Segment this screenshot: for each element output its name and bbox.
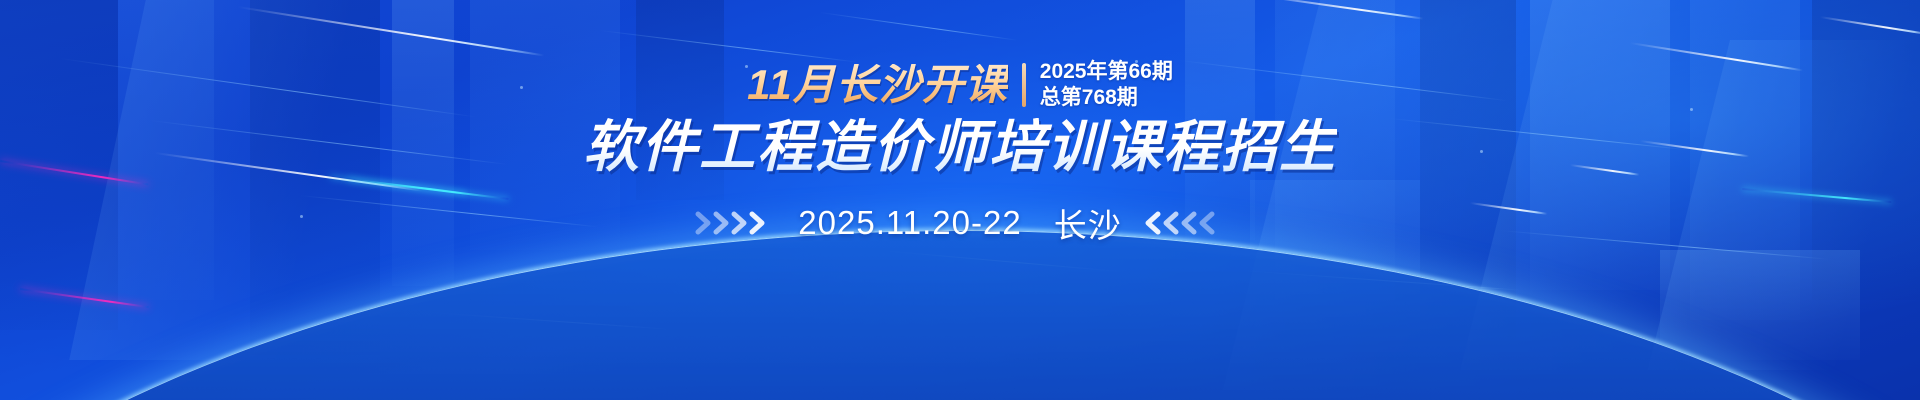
city-text: 长沙 bbox=[1054, 199, 1122, 247]
date-text: 2025.11.20-22 bbox=[798, 204, 1021, 242]
kicker-row: 11月长沙开课 2025年第66期 总第768期 bbox=[747, 58, 1173, 112]
issue-block: 2025年第66期 总第768期 bbox=[1040, 60, 1173, 111]
issue-line-1: 2025年第66期 bbox=[1040, 60, 1173, 85]
headline-text: 软件工程造价师培训课程招生 bbox=[583, 118, 1337, 177]
promo-banner: 11月长沙开课 2025年第66期 总第768期 软件工程造价师培训课程招生 bbox=[0, 0, 1920, 400]
kicker-text: 11月长沙开课 bbox=[747, 64, 1008, 106]
banner-content: 11月长沙开课 2025年第66期 总第768期 软件工程造价师培训课程招生 bbox=[0, 0, 1920, 400]
date-row: 2025.11.20-22 长沙 bbox=[694, 199, 1225, 247]
issue-line-2: 总第768期 bbox=[1040, 86, 1173, 111]
vertical-divider bbox=[1022, 63, 1026, 107]
chevron-left-group-icon bbox=[1140, 208, 1226, 238]
chevron-right-group-icon bbox=[694, 208, 780, 238]
